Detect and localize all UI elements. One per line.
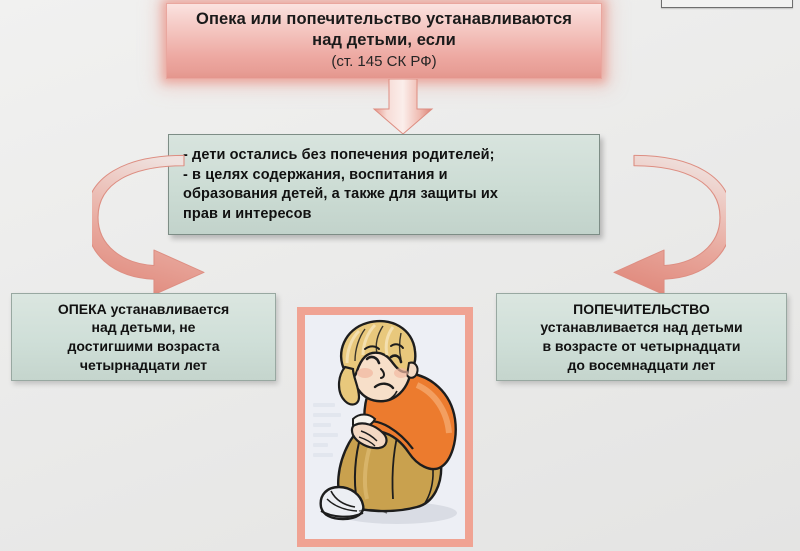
popechitelstvo-line-1: ПОПЕЧИТЕЛЬСТВО <box>573 300 710 319</box>
condition-line-3: образования детей, а также для защиты их <box>183 185 585 205</box>
condition-line-4: прав и интересов <box>183 205 585 225</box>
opeka-line-3: достигшими возраста <box>68 337 220 356</box>
popechitelstvo-line-2: устанавливается над детьми <box>540 318 742 337</box>
guardianship-popechitelstvo-box: ПОПЕЧИТЕЛЬСТВО устанавливается над детьм… <box>496 293 787 381</box>
title-box: Опека или попечительство устанавливаются… <box>166 3 602 79</box>
opeka-line-2: над детьми, не <box>92 318 196 337</box>
arrow-down-icon <box>371 79 435 135</box>
illustration-frame <box>297 307 473 547</box>
opeka-line-4: четырнадцати лет <box>80 356 207 375</box>
sad-child-sitting-illustration <box>305 315 465 539</box>
popechitelstvo-line-3: в возрасте от четырнадцати <box>542 337 740 356</box>
condition-line-2: - в целях содержания, воспитания и <box>183 166 585 186</box>
cropped-text-rectangle <box>661 0 793 8</box>
slide-canvas: Опека или попечительство устанавливаются… <box>0 0 800 551</box>
curved-arrow-right-icon <box>586 152 726 297</box>
title-line-1: Опека или попечительство устанавливаются <box>196 9 572 30</box>
opeka-line-1: ОПЕКА устанавливается <box>58 300 229 319</box>
condition-line-1: - дети остались без попечения родителей; <box>183 146 585 166</box>
popechitelstvo-line-4: до восемнадцати лет <box>567 356 715 375</box>
title-article-reference: (ст. 145 СК РФ) <box>331 52 436 72</box>
guardianship-opeka-box: ОПЕКА устанавливается над детьми, не дос… <box>11 293 276 381</box>
curved-arrow-left-icon <box>92 152 232 297</box>
conditions-box: - дети остались без попечения родителей;… <box>168 134 600 235</box>
title-line-2: над детьми, если <box>312 30 456 51</box>
